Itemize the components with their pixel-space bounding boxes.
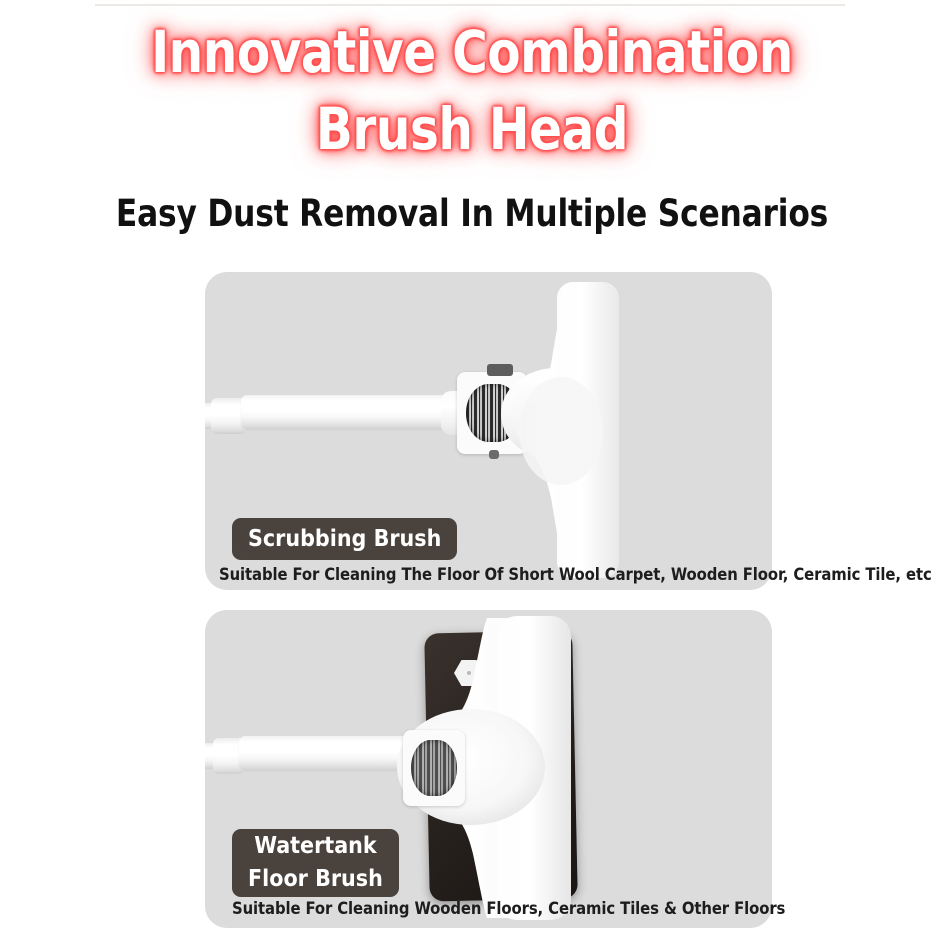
badge-watertank-label-line-1: Watertank (254, 830, 376, 863)
page-subtitle: Easy Dust Removal In Multiple Scenarios (28, 192, 915, 235)
hose-bellows-connector (411, 740, 457, 796)
page-title-line-2: Brush Head (33, 91, 911, 168)
caption-scrubbing-brush: Suitable For Cleaning The Floor Of Short… (219, 565, 932, 584)
badge-watertank-label-line-2: Floor Brush (248, 863, 383, 896)
badge-watertank-floor-brush: Watertank Floor Brush (232, 829, 399, 897)
page-title: Innovative Combination Brush Head (33, 14, 911, 167)
page-title-line-1: Innovative Combination (151, 18, 793, 86)
top-divider-rule (95, 4, 845, 6)
badge-scrubbing-brush-label: Scrubbing Brush (248, 523, 441, 556)
caption-watertank-floor-brush: Suitable For Cleaning Wooden Floors, Cer… (232, 899, 785, 918)
badge-scrubbing-brush: Scrubbing Brush (232, 518, 457, 560)
